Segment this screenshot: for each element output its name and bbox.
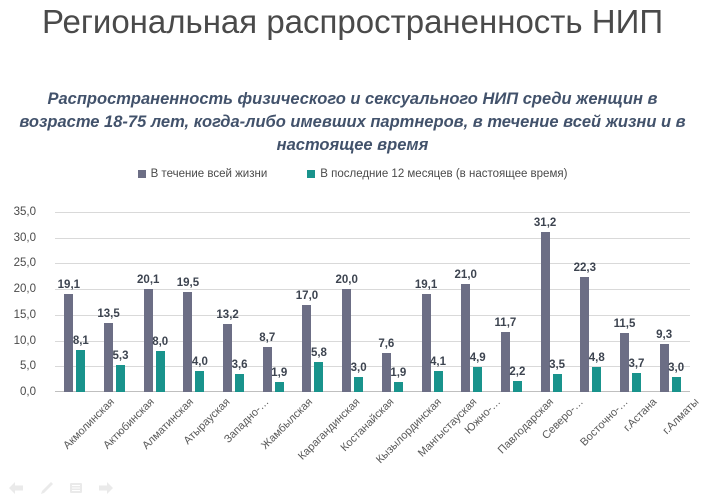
x-axis-tick: Алматинская bbox=[134, 394, 174, 484]
bar-group: 19,14,1 bbox=[412, 212, 452, 392]
bar-value-label: 19,5 bbox=[177, 277, 199, 289]
bar-group: 20,18,0 bbox=[134, 212, 174, 392]
x-axis-tick: Восточно-… bbox=[571, 394, 611, 484]
bar: 19,5 bbox=[183, 292, 192, 392]
y-axis-tick-label: 35,0 bbox=[0, 206, 36, 218]
x-axis-tick: Южно-… bbox=[452, 394, 492, 484]
bar-value-label: 17,0 bbox=[296, 290, 318, 302]
bar: 8,1 bbox=[76, 350, 85, 392]
x-axis-tick: Северо-… bbox=[531, 394, 571, 484]
bar: 3,0 bbox=[354, 377, 363, 392]
pen-icon[interactable] bbox=[38, 481, 54, 495]
y-axis-tick-label: 20,0 bbox=[0, 283, 36, 295]
bar-group: 21,04,9 bbox=[452, 212, 492, 392]
bar: 2,2 bbox=[513, 381, 522, 392]
bar-value-label: 19,1 bbox=[58, 279, 80, 291]
chart-plot-area: 0,05,010,015,020,025,030,035,0 19,18,113… bbox=[55, 212, 690, 392]
bar-value-label: 9,3 bbox=[656, 329, 672, 341]
chart-legend: В течение всей жизниВ последние 12 месяц… bbox=[0, 168, 705, 180]
bar-group: 13,55,3 bbox=[95, 212, 135, 392]
bar-value-label: 31,2 bbox=[534, 217, 556, 229]
chart-subtitle: Распространенность физического и сексуал… bbox=[18, 88, 687, 157]
bar: 21,0 bbox=[461, 284, 470, 392]
bar-group: 11,53,7 bbox=[611, 212, 651, 392]
bar: 5,8 bbox=[314, 362, 323, 392]
bar-value-label: 8,7 bbox=[259, 332, 275, 344]
bar: 3,5 bbox=[553, 374, 562, 392]
y-axis-tick-label: 25,0 bbox=[0, 257, 36, 269]
bar: 3,7 bbox=[632, 373, 641, 392]
x-axis-tick: Актюбинская bbox=[95, 394, 135, 484]
bar: 19,1 bbox=[422, 294, 431, 392]
bar: 4,8 bbox=[592, 367, 601, 392]
legend-item-label: В течение всей жизни bbox=[151, 168, 268, 180]
bar-value-label: 3,0 bbox=[668, 362, 684, 374]
bar: 1,9 bbox=[394, 382, 403, 392]
presenter-toolbar[interactable] bbox=[8, 481, 114, 495]
bar-group: 17,05,8 bbox=[293, 212, 333, 392]
bar-value-label: 20,0 bbox=[335, 274, 357, 286]
bar-value-label: 3,5 bbox=[549, 359, 565, 371]
bar-value-label: 1,9 bbox=[390, 367, 406, 379]
bar-value-label: 5,3 bbox=[113, 350, 129, 362]
bar-groups: 19,18,113,55,320,18,019,54,013,23,68,71,… bbox=[55, 212, 690, 392]
bar: 22,3 bbox=[580, 277, 589, 392]
x-axis-tick: Кызылординская bbox=[373, 394, 413, 484]
bar-group: 8,71,9 bbox=[253, 212, 293, 392]
y-axis-tick-label: 30,0 bbox=[0, 232, 36, 244]
bar-value-label: 4,9 bbox=[470, 352, 486, 364]
bar-group: 31,23,5 bbox=[531, 212, 571, 392]
x-axis-tick: Атырауская bbox=[174, 394, 214, 484]
x-axis-tick-label: г.Алматы bbox=[661, 396, 702, 437]
bar-value-label: 2,2 bbox=[509, 366, 525, 378]
bar-value-label: 8,1 bbox=[73, 335, 89, 347]
bar-value-label: 7,6 bbox=[378, 338, 394, 350]
bar-group: 19,54,0 bbox=[174, 212, 214, 392]
legend-item-label: В последние 12 месяцев (в настоящее врем… bbox=[320, 168, 567, 180]
legend-item: В течение всей жизни bbox=[138, 168, 268, 180]
y-axis-tick-label: 15,0 bbox=[0, 309, 36, 321]
bar-value-label: 3,6 bbox=[232, 359, 248, 371]
bar: 1,9 bbox=[275, 382, 284, 392]
page-title: Региональная распространенность НИП bbox=[0, 2, 705, 41]
x-axis-tick: Костанайская bbox=[333, 394, 373, 484]
bar: 8,0 bbox=[156, 351, 165, 392]
bar: 3,6 bbox=[235, 374, 244, 393]
bar-value-label: 5,8 bbox=[311, 347, 327, 359]
bar-group: 11,72,2 bbox=[492, 212, 532, 392]
x-axis-tick: Павлодарская bbox=[492, 394, 532, 484]
bar: 20,0 bbox=[342, 289, 351, 392]
arrow-right-icon[interactable] bbox=[98, 481, 114, 495]
bar-value-label: 3,0 bbox=[351, 362, 367, 374]
bar-group: 9,33,0 bbox=[650, 212, 690, 392]
bar-value-label: 8,0 bbox=[152, 336, 168, 348]
bar-group: 13,23,6 bbox=[214, 212, 254, 392]
bar-value-label: 13,2 bbox=[216, 309, 238, 321]
bar-value-label: 11,5 bbox=[614, 318, 636, 330]
x-axis-tick: Карагандинская bbox=[293, 394, 333, 484]
bar: 4,9 bbox=[473, 367, 482, 392]
bar-value-label: 11,7 bbox=[495, 317, 517, 329]
bar-value-label: 4,0 bbox=[192, 356, 208, 368]
x-axis-tick: г.Астана bbox=[611, 394, 651, 484]
bar-value-label: 4,1 bbox=[430, 356, 446, 368]
arrow-left-icon[interactable] bbox=[8, 481, 24, 495]
bar-group: 19,18,1 bbox=[55, 212, 95, 392]
x-axis-tick: Жамбылская bbox=[253, 394, 293, 484]
bar-value-label: 13,5 bbox=[97, 308, 119, 320]
bar-value-label: 19,1 bbox=[415, 279, 437, 291]
x-axis-tick: г.Алматы bbox=[650, 394, 690, 484]
bar: 4,0 bbox=[195, 371, 204, 392]
x-axis-tick: Акмолинская bbox=[55, 394, 95, 484]
bar-value-label: 20,1 bbox=[137, 274, 159, 286]
bar-value-label: 1,9 bbox=[271, 367, 287, 379]
bar: 3,0 bbox=[672, 377, 681, 392]
bar: 4,1 bbox=[434, 371, 443, 392]
x-axis-tick: Мангыстауская bbox=[412, 394, 452, 484]
slide-canvas: Региональная распространенность НИП Расп… bbox=[0, 0, 705, 501]
bar: 11,7 bbox=[501, 332, 510, 392]
square-marker-icon bbox=[307, 170, 315, 178]
bar-value-label: 22,3 bbox=[574, 262, 596, 274]
bar-value-label: 3,7 bbox=[628, 358, 644, 370]
bar-value-label: 4,8 bbox=[589, 352, 605, 364]
bar: 5,3 bbox=[116, 365, 125, 392]
y-axis-tick-label: 5,0 bbox=[0, 360, 36, 372]
x-axis-tick: Западно-… bbox=[214, 394, 254, 484]
y-axis-tick-label: 0,0 bbox=[0, 386, 36, 398]
x-axis-category-labels: АкмолинскаяАктюбинскаяАлматинскаяАтыраус… bbox=[55, 394, 690, 484]
y-axis-tick-label: 10,0 bbox=[0, 335, 36, 347]
bar-group: 22,34,8 bbox=[571, 212, 611, 392]
bar-group: 7,61,9 bbox=[373, 212, 413, 392]
legend-item: В последние 12 месяцев (в настоящее врем… bbox=[307, 168, 567, 180]
bar-group: 20,03,0 bbox=[333, 212, 373, 392]
square-marker-icon bbox=[138, 170, 146, 178]
bar-value-label: 21,0 bbox=[455, 269, 477, 281]
menu-icon[interactable] bbox=[68, 481, 84, 495]
